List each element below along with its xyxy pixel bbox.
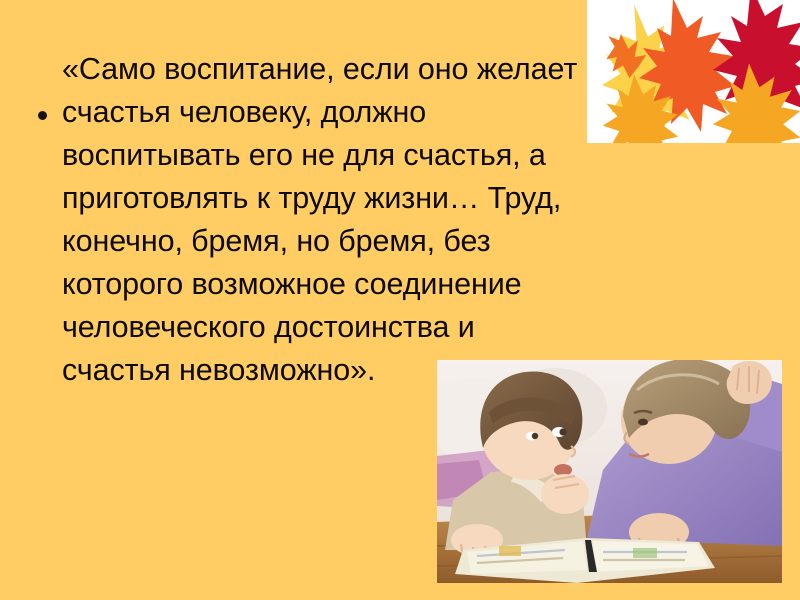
photo-mother-and-child-reading [437, 360, 782, 583]
quote-line: конечно, бремя, но бремя, без [30, 220, 630, 263]
quote-line: приготовлять к труду жизни… Труд, [30, 177, 630, 220]
child-pupil [532, 433, 538, 439]
quote-line: счастья человеку, должно [30, 91, 630, 134]
quote-text-block: «Само воспитание, если оно желает счасть… [30, 48, 630, 392]
child-pupil [559, 428, 566, 435]
book-illustration-block [633, 548, 657, 558]
slide-canvas: «Само воспитание, если оно желает счасть… [0, 0, 800, 600]
bullet-point-icon [38, 111, 47, 120]
child-hand-chin [541, 474, 589, 514]
quote-line: воспитывать его не для счастья, а [30, 134, 630, 177]
mother-eye [638, 419, 648, 426]
quote-line: которого возможное соединение [30, 263, 630, 306]
quote-line: человеческого достоинства и [30, 306, 630, 349]
quote-line: «Само воспитание, если оно желает [30, 48, 630, 91]
photo-illustration [437, 360, 782, 583]
book-illustration-block [499, 546, 521, 556]
